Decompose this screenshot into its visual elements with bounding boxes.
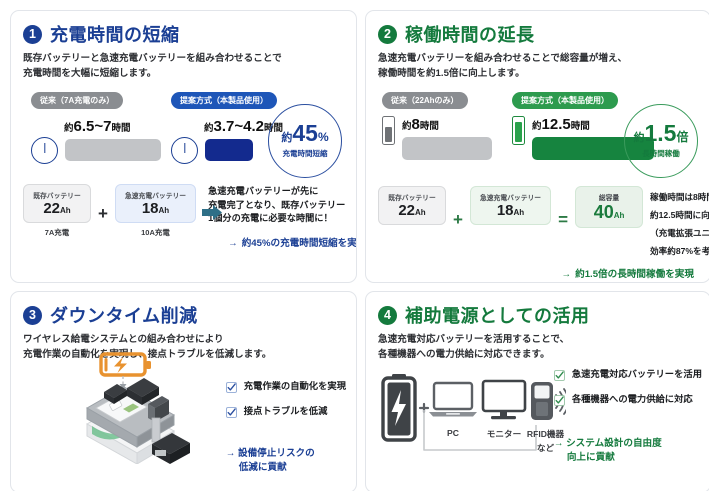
panel-1-desc-line-1: 既存バッテリーと急速充電バッテリーを組み合わせることで (23, 52, 344, 67)
panel-4-device-label-monitor: モニター (480, 428, 528, 440)
panel-operating-time-extension: 2 稼働時間の延長 急速充電バッテリーを組み合わせることで総容量が増え、 稼働時… (365, 10, 709, 283)
panel-3-desc-line-1: ワイヤレス給電システムとの組み合わせにより (23, 333, 344, 348)
arrow-right-icon: → (228, 238, 238, 249)
panel-4-desc-line-1: 急速充電対応バッテリーを活用することで、 (378, 333, 698, 348)
panel-2-note-text: 稼働時間は8時間から 約12.5時間に向上 （充電拡張ユニットの 効率約87%を… (650, 192, 709, 256)
panel-4-device-label-pc: PC (433, 428, 473, 438)
panel-2-eq-unit-1: Ah (415, 208, 426, 217)
panel-1-badge-new: 提案方式（本製品使用） (171, 92, 277, 109)
panel-1-eq-label-2: 急速充電バッテリー (125, 190, 186, 200)
arrow-right-icon: → (562, 269, 572, 280)
panel-2-eq-cell-1: 既存バッテリー 22Ah (378, 186, 446, 225)
panel-4-title: 補助電源としての活用 (405, 302, 589, 328)
panel-4-checklist: 急速充電対応バッテリーを活用 各種機器への電力供給に対応 (554, 366, 702, 405)
panel-1-eq-value-2: 18Ah (142, 201, 169, 216)
panel-4-check-label-2: 各種機器への電力供給に対応 (572, 391, 693, 405)
panel-2-conclusion-text: 約1.5倍の長時間稼働を実現 (575, 269, 694, 280)
panel-1-eq-operator-plus: + (91, 204, 115, 224)
panel-2-number: 2 (378, 25, 397, 44)
panel-2-eq-capsule-3: 総容量 40Ah (575, 186, 643, 228)
panel-1-header: 1 充電時間の短縮 (23, 21, 344, 47)
laptop-icon (429, 383, 477, 417)
panel-2-eq-value-1: 22Ah (398, 203, 425, 218)
panel-1-note-line-2: 充電完了となり、既存バッテリー (208, 200, 345, 210)
panel-1-eq-unit-2: Ah (159, 206, 170, 215)
list-item: 各種機器への電力供給に対応 (554, 391, 702, 405)
panel-2-stat-prefix: 約 (634, 132, 645, 144)
panel-2-stat-unit: 倍 (676, 130, 688, 144)
panel-1-eq-cell-1: 既存バッテリー 22Ah 7A充電 (23, 184, 91, 238)
clock-icon (171, 137, 198, 164)
panel-2-old-column: 従来（22Ahのみ） 約8時間 (382, 90, 492, 160)
panel-1-old-time-unit: 時間 (111, 123, 130, 134)
panel-1-eq-value-1: 22Ah (43, 201, 70, 216)
list-item: 急速充電対応バッテリーを活用 (554, 366, 702, 380)
panel-2-old-bar-row: 約8時間 (382, 116, 492, 160)
panel-2-old-bar (402, 137, 492, 160)
panel-2-eq-num-1: 22 (398, 202, 415, 219)
panel-2-eq-capsule-2: 急速充電バッテリー 18Ah (470, 186, 551, 225)
wireless-charging-illustration (69, 352, 194, 469)
panel-2-conclusion: →約1.5倍の長時間稼働を実現 (378, 266, 694, 280)
panel-1-eq-unit-1: Ah (60, 206, 71, 215)
panel-1-stat-main: 約45% (281, 122, 328, 145)
battery-icon (512, 116, 525, 145)
panel-2-old-time-prefix: 約 (402, 121, 412, 132)
infographic-board: 1 充電時間の短縮 既存バッテリーと急速充電バッテリーを組み合わせることで 充電… (0, 0, 709, 491)
panel-2-old-time-unit: 時間 (420, 121, 439, 132)
list-item: 充電作業の自動化を実現 (226, 378, 346, 392)
panel-4-description: 急速充電対応バッテリーを活用することで、 各種機器への電力供給に対応できます。 (378, 333, 698, 363)
panel-2-eq-cell-2: 急速充電バッテリー 18Ah (470, 186, 551, 225)
panel-2-eq-num-2: 18 (497, 202, 514, 219)
panel-3-header: 3 ダウンタイム削減 (23, 302, 344, 328)
panel-2-eq-value-3: 40Ah (594, 203, 625, 221)
panel-1-conclusion-text: 約45%の充電時間短縮を実現 (242, 238, 357, 249)
panel-4-conclusion-line-1: システム設計の自由度 (566, 438, 662, 449)
panel-2-badge-old: 従来（22Ahのみ） (382, 92, 468, 109)
panel-2-new-time-value: 12.5 (542, 116, 571, 133)
panel-3-check-label-1: 充電作業の自動化を実現 (244, 378, 346, 392)
panel-2-stat-value: 1.5 (645, 120, 677, 146)
panel-2-eq-label-3: 総容量 (599, 192, 619, 202)
arrow-right-icon: → (554, 438, 564, 449)
panel-1-old-bar-row (31, 137, 161, 164)
panel-1-note-line-1: 急速充電バッテリーが先に (208, 186, 318, 196)
panel-1-old-time-value: 6.5~7 (74, 118, 112, 135)
checkbox-checked-icon (554, 368, 565, 379)
panel-2-eq-num-3: 40 (594, 202, 614, 222)
panel-downtime-reduction: 3 ダウンタイム削減 ワイヤレス給電システムとの組み合わせにより 充電作業の自動… (10, 291, 357, 491)
panel-1-new-time-prefix: 約 (204, 123, 214, 134)
panel-2-old-group: 約8時間 (402, 116, 492, 160)
panel-1-stat-circle: 約45% 充電時間短縮 (268, 104, 342, 178)
panel-1-eq-cell-2: 急速充電バッテリー 18Ah 10A充電 (115, 184, 196, 238)
panel-1-note-block: 急速充電バッテリーが先に 充電完了となり、既存バッテリー 1個分の充電に必要な時… (202, 184, 357, 249)
panel-1-new-column: 提案方式（本製品使用） 約3.7~4.2時間 (171, 90, 283, 164)
panel-1-new-bar (205, 139, 253, 161)
panel-2-new-time-unit: 時間 (571, 121, 590, 132)
panel-2-title: 稼働時間の延長 (405, 21, 535, 47)
panel-2-stat-main: 約1.5倍 (634, 122, 689, 145)
panel-2-eq-unit-3: Ah (614, 211, 625, 220)
panel-3-number: 3 (23, 306, 42, 325)
panel-4-right-column: 急速充電対応バッテリーを活用 各種機器への電力供給に対応 → システム設計の自由… (554, 366, 702, 466)
panel-4-conclusion-line-2: 向上に貢献 (554, 451, 702, 465)
panel-4-desc-line-2: 各種機器への電力供給に対応できます。 (378, 348, 698, 363)
panel-2-eq-value-2: 18Ah (497, 203, 524, 218)
panel-2-badge-new: 提案方式（本製品使用） (512, 92, 618, 109)
panel-1-old-time: 約6.5~7時間 (64, 118, 161, 135)
panel-1-eq-num-2: 18 (142, 200, 159, 217)
panel-2-comparison: 従来（22Ahのみ） 約8時間 提案方式（本製品使用） (378, 90, 698, 172)
panel-1-note-text: 急速充電バッテリーが先に 充電完了となり、既存バッテリー 1個分の充電に必要な時… (208, 185, 345, 226)
list-item: 接点トラブルを低減 (226, 403, 346, 417)
panel-1-new-time-value: 3.7~4.2 (214, 118, 264, 135)
panel-2-header: 2 稼働時間の延長 (378, 21, 698, 47)
arrow-right-icon: → (226, 448, 236, 459)
panel-2-stat-circle: 約1.5倍 長時間稼働 (624, 104, 698, 178)
panel-2-note-line-2: 約12.5時間に向上 (650, 210, 709, 220)
checkbox-checked-icon (226, 405, 237, 416)
panel-1-eq-capsule-2: 急速充電バッテリー 18Ah (115, 184, 196, 223)
panel-3-conclusion-line-1: 設備停止リスクの (238, 448, 315, 459)
panel-2-eq-unit-2: Ah (514, 208, 525, 217)
panel-1-description: 既存バッテリーと急速充電バッテリーを組み合わせることで 充電時間を大幅に短縮しま… (23, 52, 344, 82)
panel-2-note-line-1: 稼働時間は8時間から (650, 192, 709, 202)
panel-1-title: 充電時間の短縮 (50, 21, 180, 47)
panel-1-stat-sub: 充電時間短縮 (283, 148, 328, 159)
panel-1-number: 1 (23, 25, 42, 44)
panel-1-eq-foot-2: 10A充電 (115, 227, 196, 238)
panel-1-eq-capsule-1: 既存バッテリー 22Ah (23, 184, 91, 223)
panel-1-desc-line-2: 充電時間を大幅に短縮します。 (23, 67, 344, 82)
panel-1-conclusion: →約45%の充電時間短縮を実現 (228, 235, 357, 249)
panel-3-conclusion-line-2: 低減に貢献 (226, 461, 346, 475)
checkbox-checked-icon (226, 380, 237, 391)
panel-1-new-bar-row (171, 137, 283, 164)
panel-2-eq-label-1: 既存バッテリー (388, 192, 436, 202)
battery-bolt-icon (101, 354, 151, 375)
panel-1-badge-old: 従来（7A充電のみ） (31, 92, 123, 109)
panel-2-eq-operator-plus: + (446, 210, 470, 230)
panel-1-stat-unit: % (318, 130, 329, 144)
panel-auxiliary-power-usage: 4 補助電源としての活用 急速充電対応バッテリーを活用することで、 各種機器への… (365, 291, 709, 491)
panel-2-desc-line-1: 急速充電バッテリーを組み合わせることで総容量が増え、 (378, 52, 698, 67)
panel-1-eq-foot-1: 7A充電 (23, 227, 91, 238)
panel-1-eq-label-1: 既存バッテリー (33, 190, 81, 200)
panel-2-stat-sub: 長時間稼働 (642, 148, 680, 159)
panel-2-note-line-3: （充電拡張ユニットの (650, 228, 709, 238)
panel-charging-time-reduction: 1 充電時間の短縮 既存バッテリーと急速充電バッテリーを組み合わせることで 充電… (10, 10, 357, 283)
battery-bolt-icon (383, 374, 415, 440)
checkbox-checked-icon (554, 393, 565, 404)
panel-2-eq-capsule-1: 既存バッテリー 22Ah (378, 186, 446, 225)
panel-1-note-line-3: 1個分の充電に必要な時間に！ (208, 213, 333, 223)
panel-1-old-time-prefix: 約 (64, 123, 74, 134)
panel-1-old-bar (65, 139, 161, 161)
panel-2-new-time-prefix: 約 (532, 121, 542, 132)
battery-icon (382, 116, 395, 145)
panel-2-eq-operator-equals: = (551, 210, 575, 230)
panel-2-old-time-value: 8 (412, 116, 420, 133)
panel-3-conclusion: → 設備停止リスクの 低減に貢献 (226, 447, 346, 476)
panel-1-equation: 既存バッテリー 22Ah 7A充電 + 急速充電バッテリー 18Ah 10A充電 (23, 184, 344, 249)
panel-1-comparison: 従来（7A充電のみ） 約6.5~7時間 提案方式（本製品使用） 約3.7~4.2… (23, 90, 344, 172)
clock-icon (31, 137, 58, 164)
panel-3-check-label-2: 接点トラブルを低減 (244, 403, 328, 417)
panel-2-note-line-4: 効率約87%を考慮） (650, 246, 709, 256)
panel-1-stat-prefix: 約 (281, 132, 292, 144)
panel-1-stat-value: 45 (292, 120, 318, 146)
panel-2-equation: 既存バッテリー 22Ah + 急速充電バッテリー 18Ah = 総容量 40Ah (378, 186, 698, 259)
panel-2-eq-cell-3: 総容量 40Ah (575, 186, 643, 228)
panel-3-checklist: 充電作業の自動化を実現 接点トラブルを低減 (226, 378, 346, 417)
panel-2-old-time: 約8時間 (402, 116, 439, 133)
panel-4-header: 4 補助電源としての活用 (378, 302, 698, 328)
panel-3-right-column: 充電作業の自動化を実現 接点トラブルを低減 → 設備停止リスクの 低減に貢献 (226, 378, 346, 476)
panel-2-note-block: 稼働時間は8時間から 約12.5時間に向上 （充電拡張ユニットの 効率約87%を… (650, 186, 709, 259)
panel-4-conclusion: → システム設計の自由度 向上に貢献 (554, 437, 702, 466)
panel-2-new-time: 約12.5時間 (532, 116, 590, 133)
panel-1-note-row: 急速充電バッテリーが先に 充電完了となり、既存バッテリー 1個分の充電に必要な時… (202, 185, 357, 226)
panel-4-check-label-1: 急速充電対応バッテリーを活用 (572, 366, 702, 380)
panel-1-old-column: 従来（7A充電のみ） 約6.5~7時間 (31, 90, 161, 164)
panel-2-eq-label-2: 急速充電バッテリー (480, 192, 541, 202)
monitor-icon (483, 381, 525, 419)
panel-1-eq-num-1: 22 (43, 200, 60, 217)
panel-2-description: 急速充電バッテリーを組み合わせることで総容量が増え、 稼働時間を約1.5倍に向上… (378, 52, 698, 82)
panel-4-device-diagram: PC モニター RFID機器 など (376, 370, 566, 471)
panel-3-title: ダウンタイム削減 (50, 302, 198, 328)
panel-4-number: 4 (378, 306, 397, 325)
panel-2-desc-line-2: 稼働時間を約1.5倍に向上します。 (378, 67, 698, 82)
